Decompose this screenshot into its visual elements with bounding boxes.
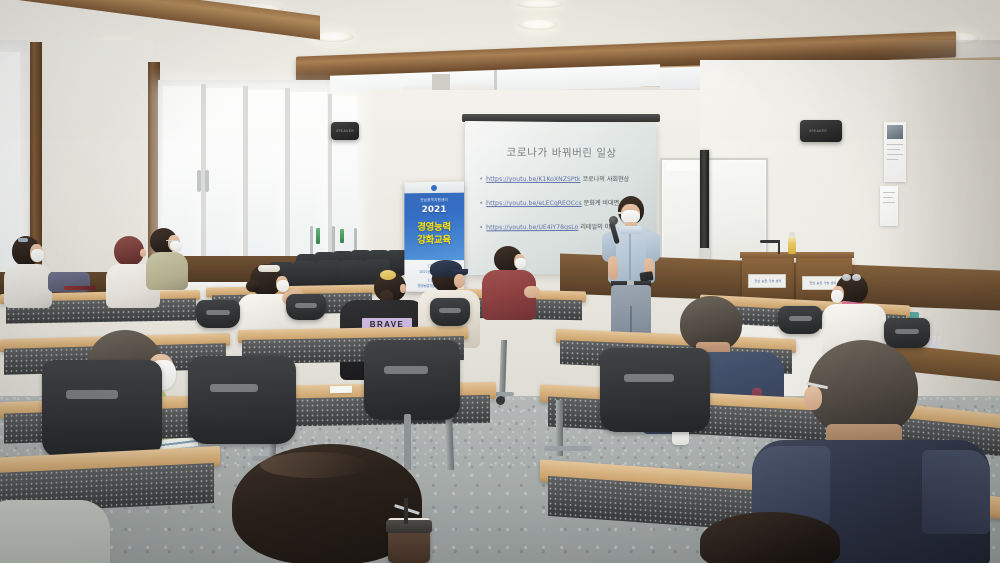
seminar-room-photo: 코로나가 바꿔버린 일상 •https://youtu.be/K1KoXNZSP… bbox=[0, 0, 1000, 563]
podium-microphone bbox=[760, 240, 780, 243]
headband bbox=[258, 265, 280, 272]
attendee-14-shoulder bbox=[0, 500, 110, 563]
sunglasses-on-head bbox=[852, 274, 861, 281]
microphone-head-icon bbox=[609, 216, 618, 225]
face-mask bbox=[31, 249, 44, 262]
slide-bullet: •https://youtu.be/K1KoXNZSPtk 코로나의 사회현상 bbox=[479, 174, 650, 183]
attendee-3 bbox=[142, 228, 196, 290]
banner-headline-2: 강화교육 bbox=[404, 232, 464, 246]
attendee-torso bbox=[146, 252, 188, 290]
chair-handle-slot bbox=[439, 308, 461, 313]
window-glass bbox=[247, 90, 285, 278]
chair[interactable] bbox=[188, 356, 296, 444]
drinking-straw bbox=[404, 498, 408, 524]
paper-slip bbox=[330, 386, 352, 393]
attendee-head bbox=[700, 512, 840, 563]
downlight bbox=[516, 0, 564, 8]
attendee-1 bbox=[2, 236, 60, 306]
hair-scrunchie bbox=[380, 270, 396, 280]
chair[interactable] bbox=[286, 294, 326, 320]
poster-text-line bbox=[887, 159, 898, 160]
chair-handle-slot bbox=[206, 310, 230, 315]
hair-highlight bbox=[260, 452, 368, 478]
cup-lid bbox=[386, 520, 432, 533]
window-handle[interactable] bbox=[197, 170, 201, 192]
poster-image bbox=[887, 125, 903, 139]
desk-caster bbox=[496, 396, 505, 405]
whiteboard-glare bbox=[664, 162, 725, 171]
wall-speaker-right: SPEAKER bbox=[800, 120, 842, 142]
attendee-13 bbox=[700, 512, 840, 563]
chair-handle-slot bbox=[384, 366, 428, 374]
wall-poster bbox=[880, 186, 898, 226]
poster-text-line bbox=[883, 197, 893, 198]
colored-rods bbox=[316, 228, 320, 244]
hair-clip bbox=[18, 238, 28, 242]
speaker-label: SPEAKER bbox=[809, 129, 827, 133]
chair[interactable] bbox=[364, 340, 460, 420]
presenter-forearm-left bbox=[608, 256, 618, 280]
poster-text-line bbox=[887, 154, 903, 155]
poster-text-line bbox=[887, 149, 900, 150]
chair[interactable] bbox=[430, 298, 470, 326]
colored-rods bbox=[340, 229, 344, 243]
bottle-cap bbox=[789, 232, 795, 237]
chair-handle-slot bbox=[789, 316, 812, 321]
slide-link[interactable]: https://youtu.be/K1KoXNZSPtk bbox=[486, 176, 580, 183]
presenter-collar bbox=[620, 226, 642, 234]
banner-headline-1: 경영능력 bbox=[404, 219, 464, 233]
attendee-ear bbox=[400, 284, 406, 293]
banner-logo-dot bbox=[431, 185, 437, 191]
window-glass bbox=[205, 88, 243, 280]
chair-handle-slot bbox=[66, 390, 118, 399]
attendee-arm bbox=[524, 286, 540, 298]
poster-text-line bbox=[887, 144, 903, 145]
bullet-dot: • bbox=[479, 224, 483, 231]
slide-caption: 코로나의 사회현상 bbox=[582, 176, 629, 183]
speaker-label: SPEAKER bbox=[336, 129, 354, 133]
podium-name-plate: 전남 농업 기술 센터 bbox=[748, 274, 786, 288]
bullet-dot: • bbox=[479, 200, 483, 207]
attendee-ear bbox=[804, 386, 822, 410]
chair[interactable] bbox=[600, 348, 710, 432]
chair[interactable] bbox=[196, 300, 240, 328]
window-mullion bbox=[243, 86, 248, 280]
attendee-face bbox=[454, 274, 465, 288]
slide-link[interactable]: https://youtu.be/eLECqREOCcs bbox=[486, 200, 582, 207]
face-mask bbox=[515, 258, 526, 269]
banner-org: 전남광역지원센터 bbox=[404, 198, 464, 204]
drink-bottle-podium bbox=[788, 236, 796, 254]
face-mask bbox=[277, 280, 289, 292]
chair-handle-slot bbox=[624, 374, 674, 382]
mask-strap bbox=[616, 212, 623, 214]
chair-handle-slot bbox=[210, 384, 258, 392]
wall-poster bbox=[884, 122, 906, 182]
window-mullion bbox=[285, 88, 290, 278]
attendee-7 bbox=[480, 246, 542, 322]
desk-rail bbox=[544, 446, 592, 451]
chair-handle-slot bbox=[295, 303, 317, 308]
downlight bbox=[518, 20, 558, 30]
podium-plate-text: 전남 농업 기술 센터 bbox=[749, 279, 787, 283]
slide-link[interactable]: https://youtu.be/UE4iY78gsLo bbox=[486, 224, 578, 231]
wall-speaker-left: SPEAKER bbox=[331, 122, 359, 140]
projector-mount bbox=[432, 74, 450, 90]
chair-handle-slot bbox=[895, 329, 919, 334]
podium-microphone-stem bbox=[778, 240, 780, 254]
attendee-torso bbox=[4, 264, 52, 308]
banner-year: 2021 bbox=[404, 205, 464, 215]
face-mask bbox=[170, 241, 181, 251]
hair-bun bbox=[246, 280, 260, 292]
poster-text-line bbox=[883, 202, 895, 203]
poster-text-line bbox=[883, 192, 895, 193]
umbrella bbox=[64, 286, 96, 290]
podium-top-ledge bbox=[740, 252, 854, 258]
slide-title: 코로나가 바꿔버린 일상 bbox=[465, 144, 656, 160]
whiteboard bbox=[660, 158, 768, 266]
window-handle[interactable] bbox=[205, 170, 209, 192]
sunglasses-on-head bbox=[842, 274, 851, 281]
chair[interactable] bbox=[42, 360, 162, 458]
vest-shoulder-right bbox=[922, 450, 990, 534]
bullet-dot: • bbox=[479, 176, 483, 183]
presenter-shirt-placket bbox=[629, 230, 631, 280]
